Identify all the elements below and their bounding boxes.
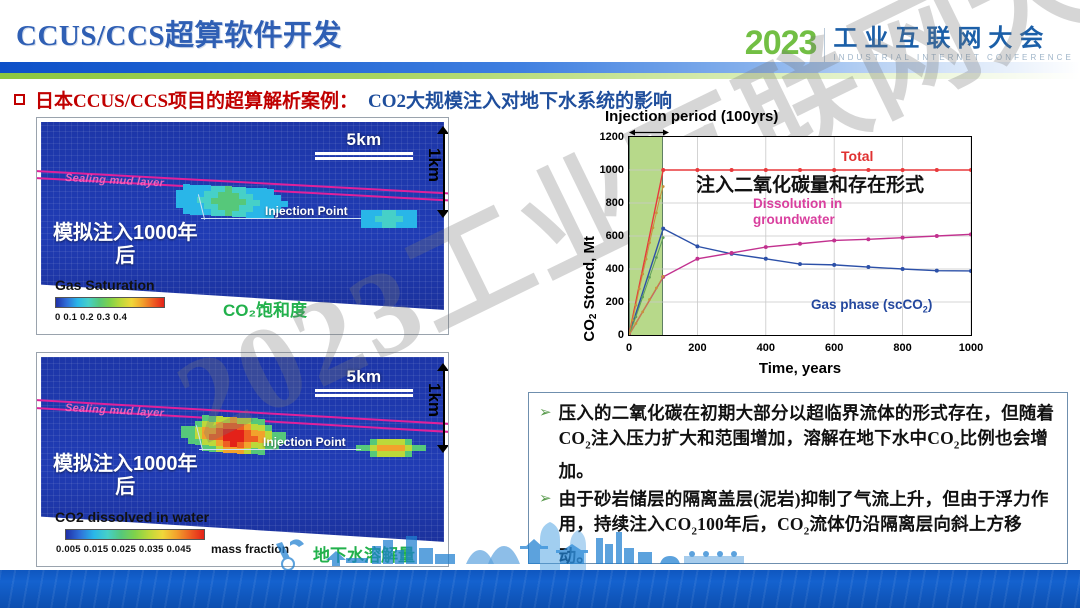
chart-y-tick: 600 [606, 230, 624, 242]
series-marker [730, 251, 734, 255]
plume-cell [405, 451, 412, 457]
colorbar-ticks-bottom: 0.005 0.015 0.025 0.035 0.045 [56, 544, 191, 555]
series-marker [655, 287, 658, 290]
colorbar-ticks-top: 0 0.1 0.2 0.3 0.4 [55, 312, 127, 323]
series-marker [935, 269, 939, 273]
arrow-head-down-icon-b [437, 445, 449, 453]
logo-english-name: INDUSTRIAL INTERNET CONFERENCE [833, 53, 1074, 62]
plume-cell [181, 432, 188, 438]
footer-band [0, 570, 1080, 608]
series-marker [641, 296, 644, 299]
series-marker [832, 238, 836, 242]
square-bullet-icon [14, 94, 25, 105]
series-marker [638, 287, 641, 290]
plume-cell [370, 451, 377, 457]
legend-title-bottom: CO2 dissolved in water [55, 509, 209, 525]
series-marker [969, 269, 971, 273]
plume-cell [410, 222, 417, 228]
plume-cell [375, 222, 382, 228]
series-marker [798, 242, 802, 246]
series-marker [634, 322, 637, 325]
co2-storage-chart: Injection period (100yrs) CO2 Stored, Mt… [583, 108, 1013, 393]
series-marker [969, 168, 971, 172]
plume-cell [211, 210, 218, 216]
plume-cell [363, 445, 370, 451]
logo-chinese-name: 工业互联网大会 [833, 26, 1074, 52]
plume-cell [412, 445, 419, 451]
series-marker [652, 226, 655, 229]
plume-cell [190, 209, 197, 215]
plume-cell [176, 202, 183, 208]
chart-x-tick: 200 [688, 342, 706, 354]
sim-caption-bottom-line1: 模拟注入1000年 [53, 453, 198, 475]
series-marker [648, 276, 651, 279]
scale-bar-rule-1 [315, 152, 413, 155]
plume-cell [403, 222, 410, 228]
chart-y-tick: 400 [606, 263, 624, 275]
tower-decoration [530, 520, 610, 572]
scale-bar-label-top: 5km [315, 130, 413, 150]
plume-cell [223, 447, 230, 453]
plume-cell [377, 451, 384, 457]
series-marker [648, 298, 651, 301]
plume-cell [391, 451, 398, 457]
plume-cell [368, 222, 375, 228]
annotation-total: Total [841, 148, 873, 164]
series-marker [645, 258, 648, 261]
plume-cell [188, 438, 195, 444]
series-marker [866, 265, 870, 269]
chart-x-tick: 800 [893, 342, 911, 354]
plume-cell [204, 209, 211, 215]
chart-y-tick: 1200 [600, 131, 624, 143]
sim-caption-bottom: 模拟注入1000年 后 [53, 453, 198, 499]
scale-bar-rule-1b [315, 389, 413, 392]
plume-cell [239, 211, 246, 217]
injection-leader-bottom-h [199, 449, 361, 450]
injection-leader-top-h [201, 218, 361, 219]
header-blue-rule [0, 62, 1080, 73]
chart-y-tick: 0 [618, 329, 624, 341]
series-marker [658, 197, 661, 200]
series-marker [901, 236, 905, 240]
header-green-rule [0, 73, 1080, 79]
note-item: ➢ 压入的二氧化碳在初期大部分以超临界流体的形式存在，但随着CO2注入压力扩大和… [539, 401, 1055, 484]
legend-title-top: Gas Saturation [55, 277, 155, 293]
subtitle: 日本CCUS/CCS项目的超算解析案例： CO2大规模注入对地下水系统的影响 [14, 86, 672, 113]
plume-cell [382, 222, 389, 228]
depth-label-bottom: 1km [424, 383, 444, 417]
series-marker [648, 241, 651, 244]
annotation-chinese: 注入二氧化碳量和存在形式 [696, 170, 924, 197]
note-text-1: 压入的二氧化碳在初期大部分以超临界流体的形式存在，但随着CO2注入压力扩大和范围… [559, 401, 1055, 484]
chart-x-tick: 400 [757, 342, 775, 354]
scale-bar-top: 5km [315, 130, 413, 160]
scale-bar-rule-2b [315, 394, 413, 397]
series-line [629, 276, 663, 335]
scale-bar-bottom: 5km [315, 367, 413, 397]
page-title: CCUS/CCS超算软件开发 [16, 12, 342, 54]
plume-cell [361, 222, 368, 228]
chart-x-tick: 1000 [959, 342, 983, 354]
chart-y-tick: 1000 [600, 164, 624, 176]
series-marker [655, 212, 658, 215]
logo-year: 2023 [745, 26, 825, 60]
plume-cell [384, 451, 391, 457]
plume-cell [225, 210, 232, 216]
series-marker [661, 227, 665, 231]
gas-saturation-simulation-panel: Sealing mud layer 5km Injection Point 模拟… [36, 117, 449, 335]
series-marker [634, 315, 637, 318]
arrow-bullet-icon: ➢ [539, 401, 552, 484]
series-marker [641, 273, 644, 276]
plume-cell [232, 211, 239, 217]
colorbar-bottom [65, 529, 205, 540]
series-marker [661, 168, 665, 172]
scale-bar-label-bottom: 5km [315, 367, 413, 387]
chart-x-axis-label: Time, years [628, 360, 972, 377]
series-marker [695, 257, 699, 261]
chart-title: Injection period (100yrs) [605, 108, 778, 125]
chart-y-tick: 800 [606, 197, 624, 209]
sim-caption-bottom-line2: 后 [53, 476, 198, 499]
chart-x-tick: 0 [626, 342, 632, 354]
series-marker [832, 263, 836, 267]
chart-x-tick: 600 [825, 342, 843, 354]
plume-cell [230, 447, 237, 453]
injection-point-label-bottom: Injection Point [263, 435, 346, 449]
series-marker [655, 256, 658, 259]
series-marker [634, 304, 637, 307]
series-marker [631, 319, 634, 322]
series-marker [901, 267, 905, 271]
sim-canvas-top: Sealing mud layer 5km Injection Point 模拟… [41, 122, 444, 330]
plume-cell [389, 222, 396, 228]
series-marker [866, 237, 870, 241]
arrow-head-down-icon [437, 210, 449, 218]
series-marker [764, 245, 768, 249]
series-marker [798, 262, 802, 266]
colorbar-top [55, 297, 165, 308]
plume-cell [218, 210, 225, 216]
slide-header: CCUS/CCS超算软件开发 2023 中国·苏州 8月14日-16日 工业互联… [0, 0, 1080, 84]
sim-caption-top-line1: 模拟注入1000年 [53, 222, 198, 244]
series-marker [935, 234, 939, 238]
plume-cell [356, 445, 363, 451]
plume-cell [183, 208, 190, 214]
plume-cell [396, 222, 403, 228]
plume-cell [398, 451, 405, 457]
sim-caption-top-line2: 后 [53, 245, 198, 268]
scale-bar-rule-2 [315, 157, 413, 160]
series-marker [662, 185, 665, 188]
series-marker [764, 257, 768, 261]
annotation-dissolution: Dissolution ingroundwater [753, 196, 842, 228]
series-marker [641, 311, 644, 314]
plume-cell [419, 445, 426, 451]
series-line [629, 187, 663, 336]
series-marker [695, 244, 699, 248]
series-marker [935, 168, 939, 172]
chart-y-tick: 200 [606, 296, 624, 308]
subtitle-red-text: 日本CCUS/CCS项目的超算解析案例： [35, 86, 358, 113]
series-marker [662, 236, 665, 239]
chart-y-axis-label: CO2 Stored, Mt [581, 236, 599, 342]
injection-point-label-top: Injection Point [265, 204, 348, 218]
series-marker [662, 275, 665, 278]
series-line [629, 234, 971, 335]
legend-chinese-top: CO₂饱和度 [223, 296, 307, 321]
annotation-gas-phase: Gas phase (scCO2) [811, 297, 932, 315]
sim-caption-top: 模拟注入1000年 后 [53, 222, 198, 268]
depth-label-top: 1km [424, 148, 444, 182]
